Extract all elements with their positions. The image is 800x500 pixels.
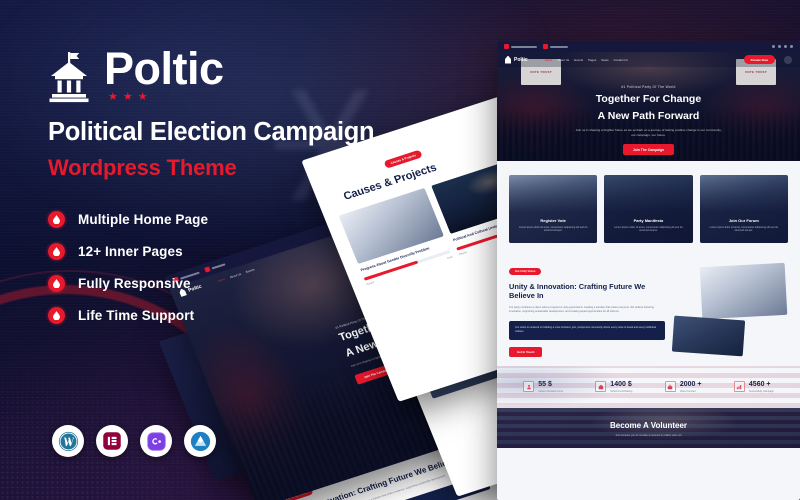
card-text: Lorem ipsum dolor sit amet, consectetur …: [514, 226, 592, 234]
star-icon: ★: [123, 92, 133, 103]
star-icon: ★: [108, 92, 118, 103]
feature-label: 12+ Inner Pages: [78, 244, 183, 259]
topbar-phone[interactable]: [543, 44, 568, 49]
nav-item-home[interactable]: Home: [545, 58, 553, 62]
hero-paragraph: Join us in shaping a brighter future as …: [497, 128, 800, 137]
feature-item-fully-responsive: Fully Responsive: [48, 267, 348, 299]
card-register-vote[interactable]: Register Vote Lorem ipsum dolor sit amet…: [509, 175, 597, 243]
card-title: Register Vote: [514, 218, 592, 223]
card-title: Party Manifesto: [609, 218, 687, 223]
brand-logo: Poltic ★ ★ ★: [48, 48, 224, 103]
hero-title-line1: Together For Change: [497, 93, 800, 106]
instagram-icon[interactable]: [784, 45, 787, 48]
main-volunteer-section: Become A Volunteer Just because you do n…: [497, 408, 800, 448]
person-donate-icon: [523, 381, 534, 392]
feature-label: Life Time Support: [78, 308, 194, 323]
main-stats-section: 55 $ Student Donation Fund 1400 $ School…: [497, 366, 800, 408]
promo-headline: Political Election Campaign: [48, 118, 468, 147]
brand-name: Poltic: [104, 48, 224, 89]
nav-item-events[interactable]: Events: [574, 58, 583, 62]
feature-item-inner-pages: 12+ Inner Pages: [48, 235, 348, 267]
feature-item-life-time-support: Life Time Support: [48, 299, 348, 331]
card-text: Lorem ipsum dolor sit amet, consectetur …: [609, 226, 687, 234]
wordpress-badge[interactable]: [52, 425, 84, 457]
stat-value: 1400 $: [610, 381, 632, 388]
main-website-mockup: Poltic Home About Us Events Pages News C…: [497, 41, 800, 500]
hero-eyebrow: #1 Political Party Of The World: [497, 85, 800, 89]
drop-bullet-icon: [48, 275, 65, 292]
promo-left-panel: Poltic ★ ★ ★ Political Election Campaign…: [0, 0, 500, 500]
feature-list: Multiple Home Page 12+ Inner Pages Fully…: [48, 203, 348, 331]
drop-bullet-icon: [48, 243, 65, 260]
linkedin-icon[interactable]: [790, 45, 793, 48]
unity-body: Our party combines a vision where progre…: [509, 306, 665, 315]
capitol-building-flag-icon: [48, 51, 94, 103]
stat-label: School Fund Raising: [610, 390, 632, 393]
volunteer-paragraph: Just because you do not take an interest…: [497, 434, 800, 437]
stat-value: 4560 +: [749, 381, 774, 388]
stat-item: 55 $ Student Donation Fund: [523, 381, 563, 393]
join-the-campaign-button[interactable]: Join The Campaign: [623, 144, 674, 155]
email-icon: [504, 44, 509, 49]
facebook-icon[interactable]: [772, 45, 775, 48]
stat-value: 2000 +: [680, 381, 702, 388]
nav-item-pages[interactable]: Pages: [588, 58, 596, 62]
stat-item: 4560 + Successfully Campaign: [734, 381, 774, 393]
main-hero-content: #1 Political Party Of The World Together…: [497, 85, 800, 156]
card-join-our-forum[interactable]: Join Our Forum Lorem ipsum dolor sit ame…: [700, 175, 788, 243]
promo-subheadline: Wordpress Theme: [48, 155, 237, 181]
feature-label: Multiple Home Page: [78, 212, 208, 227]
elementor-badge[interactable]: [96, 425, 128, 457]
technology-badges: [52, 425, 216, 457]
envato-mountain-icon: [190, 431, 211, 452]
ballot-box-icon: [665, 381, 676, 392]
capitol-building-flag-icon: [505, 56, 511, 64]
hero-title-line2: A New Path Forward: [497, 110, 800, 123]
stat-value: 55 $: [538, 381, 563, 388]
topbar-email[interactable]: [504, 44, 537, 49]
main-unity-section: Our Unity Vision Unity & Innovation: Cra…: [497, 253, 800, 366]
unity-quote: Our vision is centered on building a mor…: [509, 321, 665, 340]
stat-item: 2000 + Votes Counted: [665, 381, 702, 393]
envato-badge[interactable]: [184, 425, 216, 457]
unity-image-group: [673, 259, 788, 358]
main-hero-section: Poltic Home About Us Events Pages News C…: [497, 41, 800, 161]
star-icon: ★: [138, 92, 148, 103]
main-nav-logo[interactable]: Poltic: [505, 56, 528, 64]
topbar-social-links: [772, 45, 793, 48]
nav-item-contact-us[interactable]: Contact Us: [614, 58, 628, 62]
slider-revolution-badge[interactable]: [140, 425, 172, 457]
elementor-icon: [102, 431, 122, 451]
card-text: Lorem ipsum dolor sit amet, consectetur …: [705, 226, 783, 234]
stat-label: Student Donation Fund: [538, 390, 563, 393]
feature-label: Fully Responsive: [78, 276, 191, 291]
drop-bullet-icon: [48, 211, 65, 228]
stat-label: Votes Counted: [680, 390, 702, 393]
phone-icon: [543, 44, 548, 49]
bar-chart-icon: [734, 381, 745, 392]
wordpress-icon: [58, 431, 79, 452]
slider-revolution-icon: [146, 431, 167, 452]
unity-photo-secondary: [672, 315, 746, 356]
feature-item-multiple-home-page: Multiple Home Page: [48, 203, 348, 235]
menu-toggle-icon[interactable]: [784, 56, 792, 64]
card-party-manifesto[interactable]: Party Manifesto Lorem ipsum dolor sit am…: [604, 175, 692, 243]
drop-bullet-icon: [48, 307, 65, 324]
card-title: Join Our Forum: [705, 218, 783, 223]
donate-now-button[interactable]: Donate Now: [744, 55, 775, 64]
brand-stars: ★ ★ ★: [108, 92, 224, 103]
unity-heading: Unity & Innovation: Crafting Future We B…: [509, 282, 665, 301]
unity-photo-primary: [699, 263, 787, 319]
main-nav-logo-text: Poltic: [514, 57, 528, 63]
nav-item-about-us[interactable]: About Us: [557, 58, 569, 62]
nav-item-news[interactable]: News: [601, 58, 608, 62]
main-nav-items: Home About Us Events Pages News Contact …: [545, 58, 628, 62]
main-feature-cards: Register Vote Lorem ipsum dolor sit amet…: [497, 161, 800, 253]
home-fund-icon: [595, 381, 606, 392]
get-in-touch-button[interactable]: Get In Touch: [509, 347, 542, 357]
stat-item: 1400 $ School Fund Raising: [595, 381, 632, 393]
x-icon[interactable]: [778, 45, 781, 48]
unity-pill: Our Unity Vision: [509, 268, 541, 275]
volunteer-title: Become A Volunteer: [497, 421, 800, 430]
stat-label: Successfully Campaign: [749, 390, 774, 393]
promo-banner: Register Vote Lorem ipsum dolor sit amet…: [0, 0, 800, 500]
